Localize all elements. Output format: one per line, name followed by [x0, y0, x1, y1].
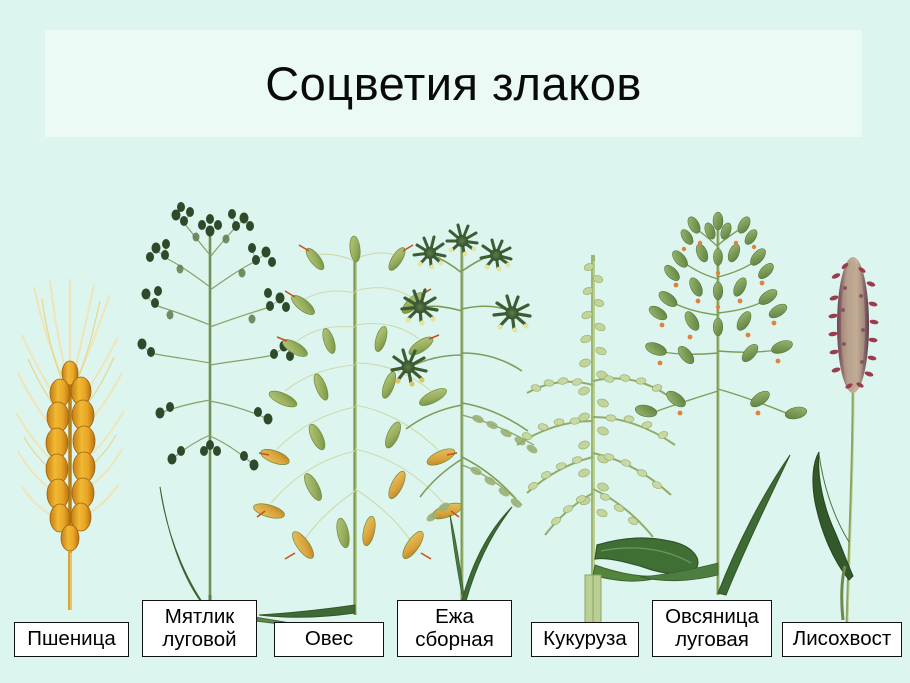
plant-label-foxtail[interactable]: Лисохвост [782, 622, 902, 657]
plant-label-cocksfoot-line-2: сборная [415, 629, 494, 651]
plant-label-cocksfoot[interactable]: Ежа сборная [397, 600, 512, 657]
plant-illustration-wheat [0, 265, 140, 610]
plant-label-bluegrass-line-1: Мятлик [165, 606, 235, 628]
plant-label-oat-line-1: Овес [305, 628, 353, 650]
plant-illustration-foxtail [805, 240, 910, 625]
plant-label-wheat-line-1: Пшеница [27, 628, 116, 650]
plant-illustration-fescue [640, 195, 825, 610]
plant-label-wheat[interactable]: Пшеница [14, 622, 129, 657]
page-title: Соцветия злаков [45, 30, 862, 137]
plant-label-foxtail-line-1: Лисохвост [793, 628, 892, 650]
plant-label-maize-line-1: Кукуруза [543, 628, 627, 650]
plant-label-fescue-line-1: Овсяница [665, 606, 759, 628]
plant-label-cocksfoot-line-1: Ежа [435, 606, 474, 628]
plant-label-bluegrass-line-2: луговой [162, 629, 236, 651]
plant-label-fescue-line-2: луговая [675, 629, 749, 651]
plant-label-bluegrass[interactable]: Мятлик луговой [142, 600, 257, 657]
plant-label-oat[interactable]: Овес [274, 622, 384, 657]
slide-canvas: Соцветия злаков [0, 0, 910, 683]
plant-label-maize[interactable]: Кукуруза [531, 622, 639, 657]
plant-label-fescue[interactable]: Овсяница луговая [652, 600, 772, 657]
